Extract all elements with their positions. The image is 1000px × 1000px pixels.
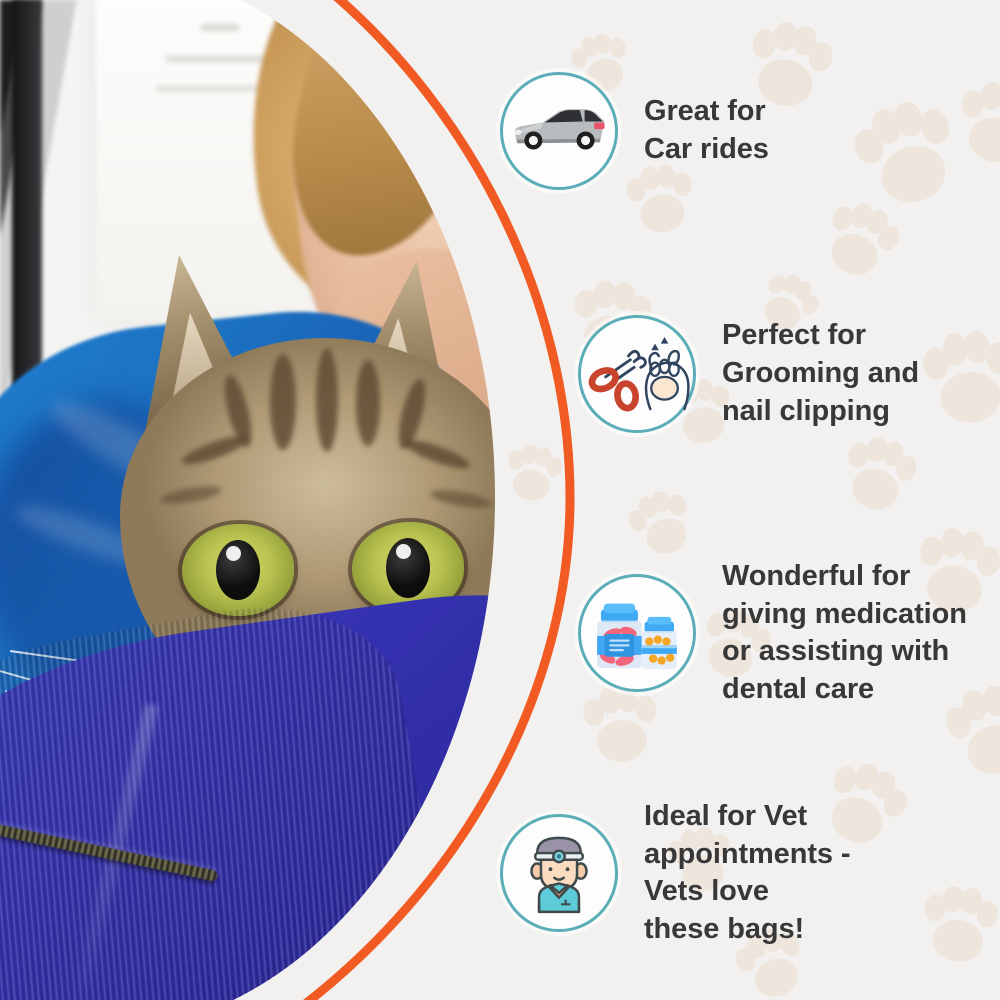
feature-icon-circle <box>500 72 618 190</box>
feature-label: Wonderful for giving medication or assis… <box>722 558 967 709</box>
feature-item-vet[interactable]: Ideal for Vet appointments - Vets love t… <box>500 798 850 949</box>
car-icon <box>503 75 615 187</box>
feature-item-medication[interactable]: Wonderful for giving medication or assis… <box>578 558 967 709</box>
feature-icon-circle <box>500 814 618 932</box>
feature-item-car-rides[interactable]: Great for Car rides <box>500 72 769 190</box>
product-feature-image: Great for Car rides <box>0 0 1000 1000</box>
feature-item-grooming[interactable]: Perfect for Grooming and nail clipping <box>578 315 919 433</box>
feature-list: Great for Car rides <box>0 0 1000 1000</box>
feature-label: Perfect for Grooming and nail clipping <box>722 317 919 430</box>
veterinarian-icon <box>503 817 615 929</box>
nail-clipper-paw-icon <box>581 318 693 430</box>
feature-label: Ideal for Vet appointments - Vets love t… <box>644 798 850 949</box>
pill-bottles-icon <box>581 577 693 689</box>
feature-icon-circle <box>578 315 696 433</box>
feature-label: Great for Car rides <box>644 93 769 168</box>
feature-icon-circle <box>578 574 696 692</box>
